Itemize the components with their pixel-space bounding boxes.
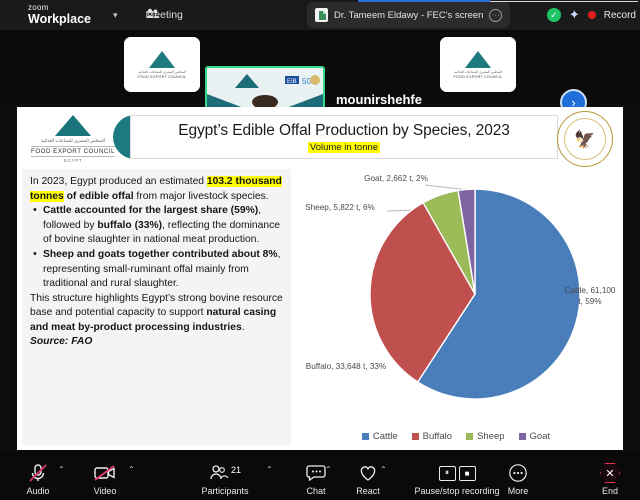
pie-chart: Goat, 2,662 t, 2% Sheep, 5,822 t, 6% Cat… xyxy=(295,169,617,419)
video-thumbnail-0[interactable]: المجلس المصرى للصناعات الغذائية FOOD EXP… xyxy=(124,37,200,92)
screen-share-tab-label: Dr. Tameem Eldawy - FEC's screen xyxy=(334,10,483,21)
brand-workplace-text: Workplace xyxy=(28,13,91,26)
pause-icon[interactable]: ⏸ xyxy=(439,466,456,481)
ellipsis-icon xyxy=(508,463,528,483)
page-title: Egypt’s Edible Offal Production by Speci… xyxy=(178,122,510,140)
toolbar-more-button[interactable]: More xyxy=(485,463,551,496)
legend-label: Buffalo xyxy=(423,431,452,442)
fec-logo: المجلس المصرى للصناعات الغذائية FOOD EXP… xyxy=(25,113,121,165)
toolbar-label: End xyxy=(602,486,618,496)
video-options-caret[interactable]: ⌃ xyxy=(128,465,135,474)
toolbar-participants-button[interactable]: 21 Participants xyxy=(186,463,264,496)
pyramid-icon xyxy=(55,115,91,136)
narrative-text-panel: In 2023, Egypt produced an estimated 103… xyxy=(22,169,291,445)
meeting-nav-label: Meeting xyxy=(146,10,183,21)
data-label-sheep: Sheep, 5,822 t, 6% xyxy=(298,202,382,213)
fec-logo-english: FOOD EXPORT COUNCIL xyxy=(31,146,115,157)
legend-swatch xyxy=(362,433,369,440)
data-label-buffalo: Buffalo, 33,648 t, 33% xyxy=(303,361,389,372)
slide-subtitle: Volume in tonne xyxy=(308,142,380,153)
fec-logo-thumb-2: المجلس المصرى للصناعات الغذائية FOOD EXP… xyxy=(440,37,516,92)
fec-english-text-2: FOOD EXPORT COUNCIL xyxy=(454,75,503,79)
recording-dot-icon xyxy=(588,11,596,19)
fec-logo-arabic: المجلس المصرى للصناعات الغذائية xyxy=(41,138,105,144)
intro-part-b: of edible offal xyxy=(64,191,134,202)
toolbar-label: Participants xyxy=(201,486,248,496)
chat-options-caret[interactable]: ⌃ xyxy=(325,465,332,474)
end-call-icon: ✕ xyxy=(600,463,620,483)
bullet-list: Cattle accounted for the largest share (… xyxy=(30,204,283,292)
microphone-muted-icon xyxy=(27,463,49,483)
zoom-meeting-window: zoom Workplace ▾ Meeting Dr. Tameem Elda… xyxy=(0,0,640,500)
pause-stop-icon: ⏸ ■ xyxy=(439,463,476,483)
video-thumbnail-3[interactable]: المجلس المصرى للصناعات الغذائية FOOD EXP… xyxy=(440,37,516,92)
title-bar: zoom Workplace ▾ Meeting Dr. Tameem Elda… xyxy=(0,0,640,30)
paragraph-conclusion: This structure highlights Egypt’s strong… xyxy=(30,292,283,336)
shield-check-icon[interactable]: ✓ xyxy=(547,8,561,22)
stop-icon[interactable]: ■ xyxy=(459,466,476,481)
bullet-1-bold-1: Sheep and goats together contributed abo… xyxy=(43,249,278,260)
egypt-emblem-icon: 🦅 xyxy=(557,111,613,167)
participant-display-name-large: mounirshehfe xyxy=(336,92,422,107)
meeting-toolbar: Audio ⌃ Video ⌃ 21 xyxy=(0,450,640,500)
camera-off-icon xyxy=(93,463,117,483)
eagle-glyph: 🦅 xyxy=(574,131,595,148)
toolbar-label: Video xyxy=(94,486,117,496)
pyramid-icon xyxy=(149,51,175,68)
fec-logo-thumb: المجلس المصرى للصناعات الغذائية FOOD EXP… xyxy=(124,37,200,92)
toolbar-label: Chat xyxy=(306,486,325,496)
egypt-emblem-inner: 🦅 xyxy=(564,118,606,160)
legend-label: Sheep xyxy=(477,431,504,442)
fec-arabic-text: المجلس المصرى للصناعات الغذائية xyxy=(138,70,186,74)
pie-slices xyxy=(370,189,580,399)
people-icon: 21 xyxy=(208,463,242,483)
bullet-0-bold-2: buffalo (33%) xyxy=(97,220,162,231)
intro-part-c: from major livestock species. xyxy=(134,191,269,202)
legend-item-goat[interactable]: Goat xyxy=(519,431,551,442)
fec-arabic-text-2: المجلس المصرى للصناعات الغذائية xyxy=(454,70,502,74)
meeting-nav-item[interactable]: Meeting xyxy=(146,6,160,24)
tab-more-icon[interactable]: ··· xyxy=(489,9,502,22)
toolbar-label: React xyxy=(356,486,380,496)
chart-legend: CattleBuffaloSheepGoat xyxy=(295,431,617,442)
shared-screen-slide: المجلس المصرى للصناعات الغذائية FOOD EXP… xyxy=(17,107,623,450)
list-item: Sheep and goats together contributed abo… xyxy=(30,248,283,292)
document-icon xyxy=(315,8,328,22)
legend-swatch xyxy=(412,433,419,440)
svg-text:50: 50 xyxy=(302,77,311,86)
toolbar-label: More xyxy=(508,486,529,496)
legend-label: Goat xyxy=(530,431,551,442)
concl-part-c: . xyxy=(242,322,245,333)
bullet-0-bold-1: Cattle accounted for the largest share (… xyxy=(43,205,258,216)
participants-options-caret[interactable]: ⌃ xyxy=(266,465,273,474)
svg-text:21: 21 xyxy=(231,465,241,475)
legend-item-sheep[interactable]: Sheep xyxy=(466,431,504,442)
zoom-workplace-logo: zoom Workplace xyxy=(28,4,91,26)
title-container: Egypt’s Edible Offal Production by Speci… xyxy=(130,115,558,159)
recording-status-label: Record xyxy=(604,10,636,21)
intro-part-a: In 2023, Egypt produced an estimated xyxy=(30,176,207,187)
pie-chart-panel: Goat, 2,662 t, 2% Sheep, 5,822 t, 6% Cat… xyxy=(295,169,617,450)
chat-bubble-icon xyxy=(306,463,326,483)
fec-english-text: FOOD EXPORT COUNCIL xyxy=(138,75,187,79)
ai-sparkle-icon[interactable]: ✦ xyxy=(569,7,580,23)
data-label-goat: Goat, 2,662 t, 2% xyxy=(353,173,439,184)
toolbar-label: Audio xyxy=(26,486,49,496)
legend-swatch xyxy=(466,433,473,440)
heart-icon xyxy=(358,463,378,483)
screen-share-tab[interactable]: Dr. Tameem Eldawy - FEC's screen ··· xyxy=(307,2,510,28)
legend-item-cattle[interactable]: Cattle xyxy=(362,431,398,442)
legend-item-buffalo[interactable]: Buffalo xyxy=(412,431,452,442)
audio-options-caret[interactable]: ⌃ xyxy=(58,465,65,474)
brand-zoom-text: zoom xyxy=(28,4,91,12)
svg-text:EIB: EIB xyxy=(287,79,297,85)
react-options-caret[interactable]: ⌃ xyxy=(380,465,387,474)
fec-logo-country: EGYPT xyxy=(64,158,83,163)
video-thumbnail-strip: المجلس المصرى للصناعات الغذائية FOOD EXP… xyxy=(0,30,640,103)
pyramid-icon xyxy=(465,51,491,68)
legend-label: Cattle xyxy=(373,431,398,442)
titlebar-status-group: ✓ ✦ Record xyxy=(547,0,640,30)
source-note: Source: FAO xyxy=(30,336,283,347)
data-label-cattle: Cattle, 61,100 t, 59% xyxy=(563,285,617,307)
chevron-down-icon[interactable]: ▾ xyxy=(113,10,118,21)
slide-header: المجلس المصرى للصناعات الغذائية FOOD EXP… xyxy=(17,107,623,169)
toolbar-react-button[interactable]: React xyxy=(335,463,401,496)
end-hexagon: ✕ xyxy=(600,463,620,483)
legend-swatch xyxy=(519,433,526,440)
paragraph-intro: In 2023, Egypt produced an estimated 103… xyxy=(30,175,283,204)
toolbar-end-button[interactable]: ✕ End xyxy=(577,463,640,496)
slide-body: In 2023, Egypt produced an estimated 103… xyxy=(17,169,623,450)
list-item: Cattle accounted for the largest share (… xyxy=(30,204,283,248)
